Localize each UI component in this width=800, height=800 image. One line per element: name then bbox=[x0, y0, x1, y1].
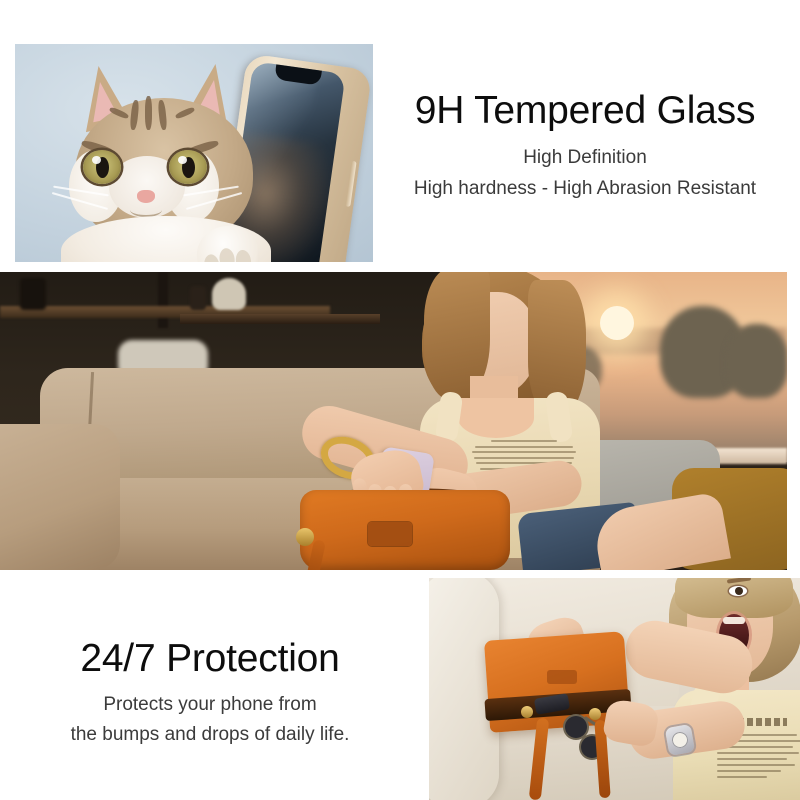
feature-text-tempered-glass: 9H Tempered Glass High Definition High h… bbox=[380, 88, 790, 202]
sofa-armrest bbox=[0, 424, 120, 570]
cat-toe bbox=[218, 247, 236, 262]
image-sofa-bag bbox=[0, 272, 787, 570]
kitten bbox=[57, 64, 272, 262]
cat-nose bbox=[137, 190, 155, 203]
cat-eye-highlight bbox=[92, 156, 101, 164]
cat-eye-right bbox=[169, 150, 207, 184]
shelf-post bbox=[158, 272, 168, 328]
bag-zipper-pull bbox=[521, 706, 533, 718]
woman-pupil bbox=[735, 587, 743, 595]
bag-logo-tag bbox=[547, 670, 577, 684]
cat-stripe bbox=[145, 96, 152, 130]
shelf-object bbox=[190, 286, 206, 310]
woman-eye bbox=[729, 586, 747, 596]
subline-protects-phone: Protects your phone from bbox=[18, 692, 402, 718]
woman-chest bbox=[458, 398, 534, 438]
setting-sun bbox=[600, 306, 634, 340]
watch-face bbox=[671, 731, 690, 750]
tree-silhouette bbox=[726, 324, 787, 398]
headline-protection: 24/7 Protection bbox=[18, 636, 402, 682]
bag-zipper-pull bbox=[589, 708, 601, 720]
wristwatch bbox=[665, 724, 695, 756]
subline-high-hardness: High hardness - High Abrasion Resistant bbox=[380, 176, 790, 202]
image-shocked-woman bbox=[429, 578, 800, 800]
bag-zipper-pull bbox=[296, 528, 314, 546]
image-cat-phone bbox=[15, 44, 373, 262]
shelf-vase bbox=[20, 278, 46, 310]
teeth bbox=[723, 617, 745, 624]
subline-high-definition: High Definition bbox=[380, 145, 790, 171]
woman-hair-top bbox=[675, 578, 793, 618]
wall-shelf-upper bbox=[180, 314, 380, 324]
cat-toe bbox=[235, 249, 253, 262]
product-feature-image: 9H Tempered Glass High Definition High h… bbox=[0, 0, 800, 800]
subline-bumps-drops: the bumps and drops of daily life. bbox=[18, 722, 402, 748]
bag-logo-tag bbox=[368, 522, 412, 546]
cat-eye-highlight bbox=[178, 156, 187, 164]
table-lamp bbox=[212, 278, 246, 310]
headline-tempered-glass: 9H Tempered Glass bbox=[380, 88, 790, 134]
cat-eye-left bbox=[83, 150, 121, 184]
sunglasses-lens bbox=[565, 716, 587, 738]
cat-mouth bbox=[130, 203, 162, 217]
cat-toe bbox=[203, 253, 221, 262]
feature-text-protection: 24/7 Protection Protects your phone from… bbox=[18, 636, 402, 748]
